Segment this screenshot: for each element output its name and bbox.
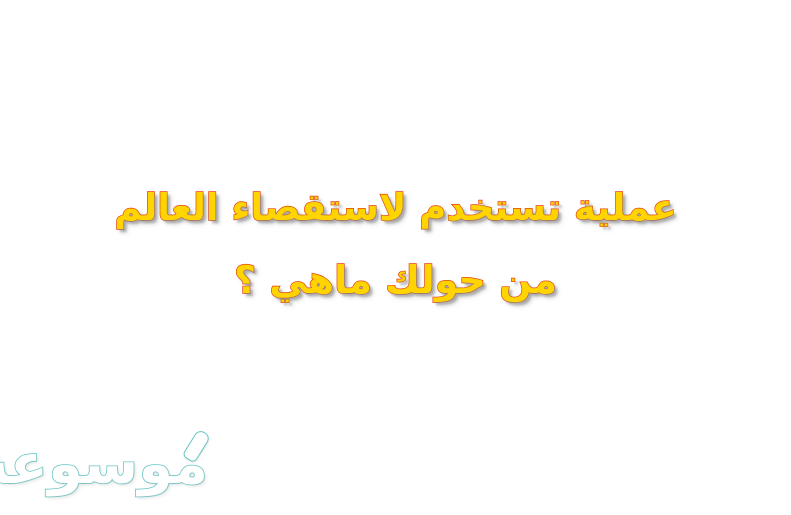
question-text-block: عملية تستخدم لاستقصاء العالم من حولك ماه…	[0, 176, 791, 312]
watermark-logo-text: موسوعة	[0, 428, 208, 502]
question-line-2: من حولك ماهي ؟	[0, 248, 791, 312]
page-canvas: عملية تستخدم لاستقصاء العالم من حولك ماه…	[0, 0, 791, 515]
watermark-logo: موسوعة	[8, 424, 208, 506]
question-line-1: عملية تستخدم لاستقصاء العالم	[0, 176, 791, 240]
